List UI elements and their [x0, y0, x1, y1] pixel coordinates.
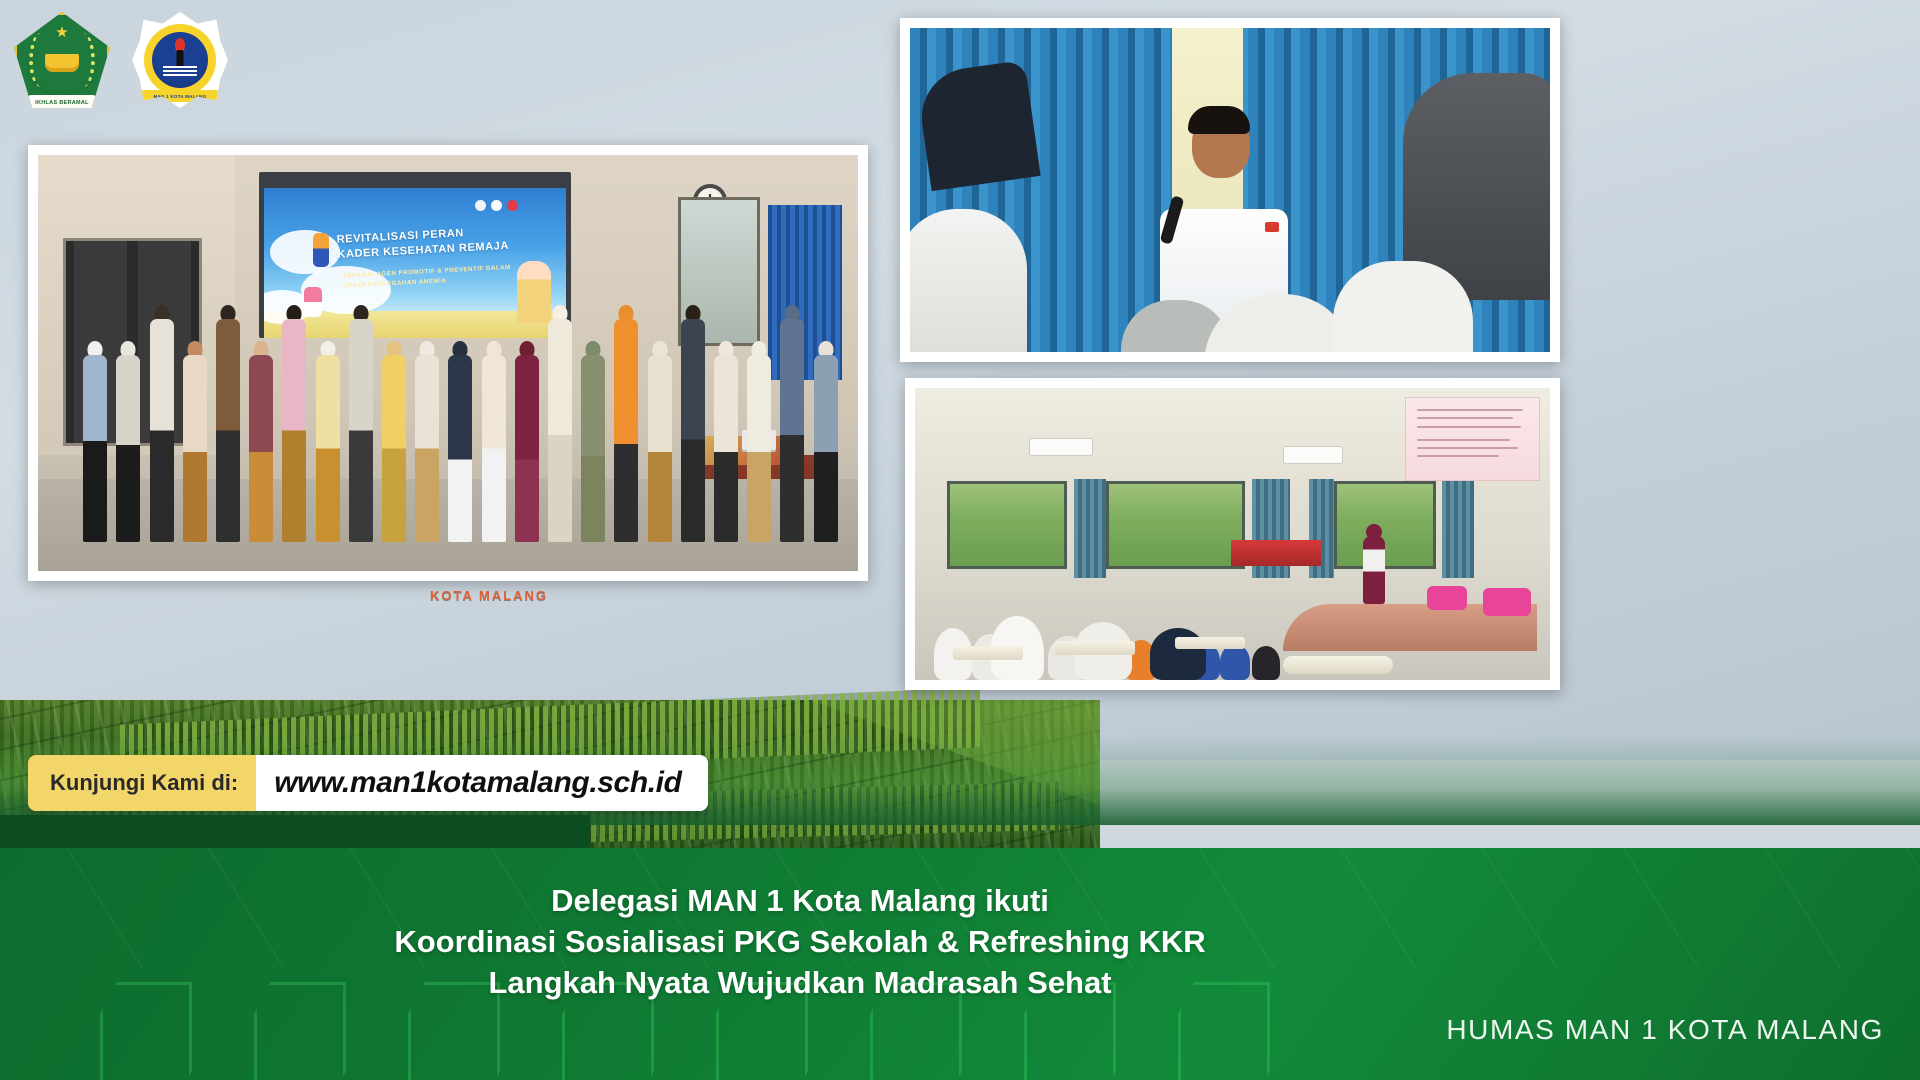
classroom-session-photo	[905, 378, 1560, 690]
person	[278, 305, 310, 542]
person-body	[614, 319, 638, 542]
participant-head-front	[1150, 628, 1206, 680]
student-photo-inner	[910, 28, 1550, 352]
school-emblem-ring	[144, 24, 216, 96]
website-label: Kunjungi Kami di:	[28, 755, 256, 811]
caption-line-2: Koordinasi Sosialisasi PKG Sekolah & Ref…	[0, 921, 1600, 962]
slide-title: REVITALISASI PERAN KADER KESEHATAN REMAJ…	[336, 221, 561, 262]
star-icon: ★	[55, 25, 68, 40]
audience-hijab	[1333, 261, 1473, 352]
poster-canvas: KOTA MALANG ★ IKHLAS BERAMAL	[0, 0, 1920, 1080]
dot-icon	[475, 200, 486, 211]
person-body	[747, 355, 771, 542]
person-body	[814, 355, 838, 542]
person-body	[780, 319, 804, 542]
slide-text-line	[1417, 439, 1510, 441]
person	[643, 341, 675, 542]
person	[710, 341, 742, 542]
presentation-slide	[1405, 397, 1540, 481]
website-bar[interactable]: Kunjungi Kami di: www.man1kotamalang.sch…	[28, 755, 708, 811]
person	[245, 341, 277, 542]
person	[411, 341, 443, 542]
person	[79, 341, 111, 542]
desk	[1175, 637, 1245, 649]
credit-humas: HUMAS MAN 1 KOTA MALANG	[1446, 1014, 1884, 1046]
person	[577, 341, 609, 542]
participant-head	[1252, 646, 1280, 680]
person-body	[316, 355, 340, 542]
person	[776, 305, 808, 542]
person	[511, 341, 543, 542]
person-body	[116, 355, 140, 542]
person-body	[150, 319, 174, 542]
slide-text-line	[1417, 417, 1513, 419]
school-logo: MAN 1 KOTA MALANG	[132, 12, 228, 108]
person	[212, 305, 244, 542]
person	[112, 341, 144, 542]
person-body	[648, 355, 672, 542]
person-body	[83, 355, 107, 542]
wreath-left-icon	[29, 33, 53, 87]
person-body	[216, 319, 240, 542]
audience-hijab	[910, 209, 1027, 352]
person	[145, 305, 177, 542]
school-emblem-core	[152, 32, 208, 88]
desk	[953, 646, 1023, 660]
person-body	[415, 355, 439, 542]
group-photo-inner: REVITALISASI PERAN KADER KESEHATAN REMAJ…	[38, 155, 858, 571]
slide-text-line	[1417, 426, 1521, 428]
auditorium-scene	[910, 28, 1550, 352]
person-body	[183, 355, 207, 542]
classroom-scene	[915, 388, 1550, 680]
person	[444, 341, 476, 542]
school-ribbon-text: MAN 1 KOTA MALANG	[141, 90, 219, 102]
kemenag-logo: ★ IKHLAS BERAMAL	[14, 12, 110, 108]
building-sign-text: KOTA MALANG	[430, 588, 548, 603]
logo-group: ★ IKHLAS BERAMAL MAN 1 KOTA MALANG	[14, 12, 228, 108]
dot-icon	[491, 200, 502, 211]
caption-block: Delegasi MAN 1 Kota Malang ikuti Koordin…	[0, 880, 1600, 1004]
air-conditioner-icon	[1029, 438, 1093, 456]
person	[677, 305, 709, 542]
person	[544, 305, 576, 542]
caption-line-1: Delegasi MAN 1 Kota Malang ikuti	[0, 880, 1600, 921]
person-body	[515, 355, 539, 542]
person-body	[249, 355, 273, 542]
person-body	[548, 319, 572, 542]
person	[179, 341, 211, 542]
student-with-microphone-photo	[900, 18, 1560, 362]
slide-illustration-child	[313, 233, 329, 267]
person-body	[349, 319, 373, 542]
book-pages-icon	[163, 66, 197, 76]
air-conditioner-icon	[1283, 446, 1343, 464]
participant-head	[1220, 644, 1250, 680]
slide-logo-dots	[475, 200, 518, 211]
people-group	[79, 284, 842, 542]
person	[610, 305, 642, 542]
website-url[interactable]: www.man1kotamalang.sch.id	[256, 755, 707, 811]
seated-participants	[915, 540, 1550, 680]
person	[477, 341, 509, 542]
person	[378, 341, 410, 542]
kemenag-pentagon-icon: ★ IKHLAS BERAMAL	[14, 12, 110, 108]
person-body	[382, 355, 406, 542]
person	[345, 305, 377, 542]
person	[809, 341, 841, 542]
hall-scene: REVITALISASI PERAN KADER KESEHATAN REMAJ…	[38, 155, 858, 571]
person-body	[448, 355, 472, 542]
kemenag-emblem-inner: ★	[25, 23, 99, 97]
kemenag-motto-ribbon: IKHLAS BERAMAL	[28, 95, 96, 110]
wreath-right-icon	[71, 33, 95, 87]
person	[743, 341, 775, 542]
caption-line-3: Langkah Nyata Wujudkan Madrasah Sehat	[0, 962, 1600, 1003]
person-body	[581, 355, 605, 542]
uniform-badge-icon	[1265, 222, 1279, 232]
person	[311, 341, 343, 542]
group-photo-delegation: REVITALISASI PERAN KADER KESEHATAN REMAJ…	[28, 145, 868, 581]
person-body	[482, 355, 506, 542]
person-body	[681, 319, 705, 542]
desk	[1283, 656, 1393, 674]
classroom-photo-inner	[915, 388, 1550, 680]
person-body	[714, 355, 738, 542]
speaker-hair	[1188, 106, 1250, 134]
person-body	[282, 319, 306, 542]
school-emblem-icon: MAN 1 KOTA MALANG	[132, 12, 228, 108]
desk	[1055, 641, 1135, 655]
slide-text-line	[1417, 455, 1500, 457]
slide-text-line	[1417, 409, 1524, 411]
slide-text-line	[1417, 447, 1518, 449]
dot-icon	[507, 200, 518, 211]
